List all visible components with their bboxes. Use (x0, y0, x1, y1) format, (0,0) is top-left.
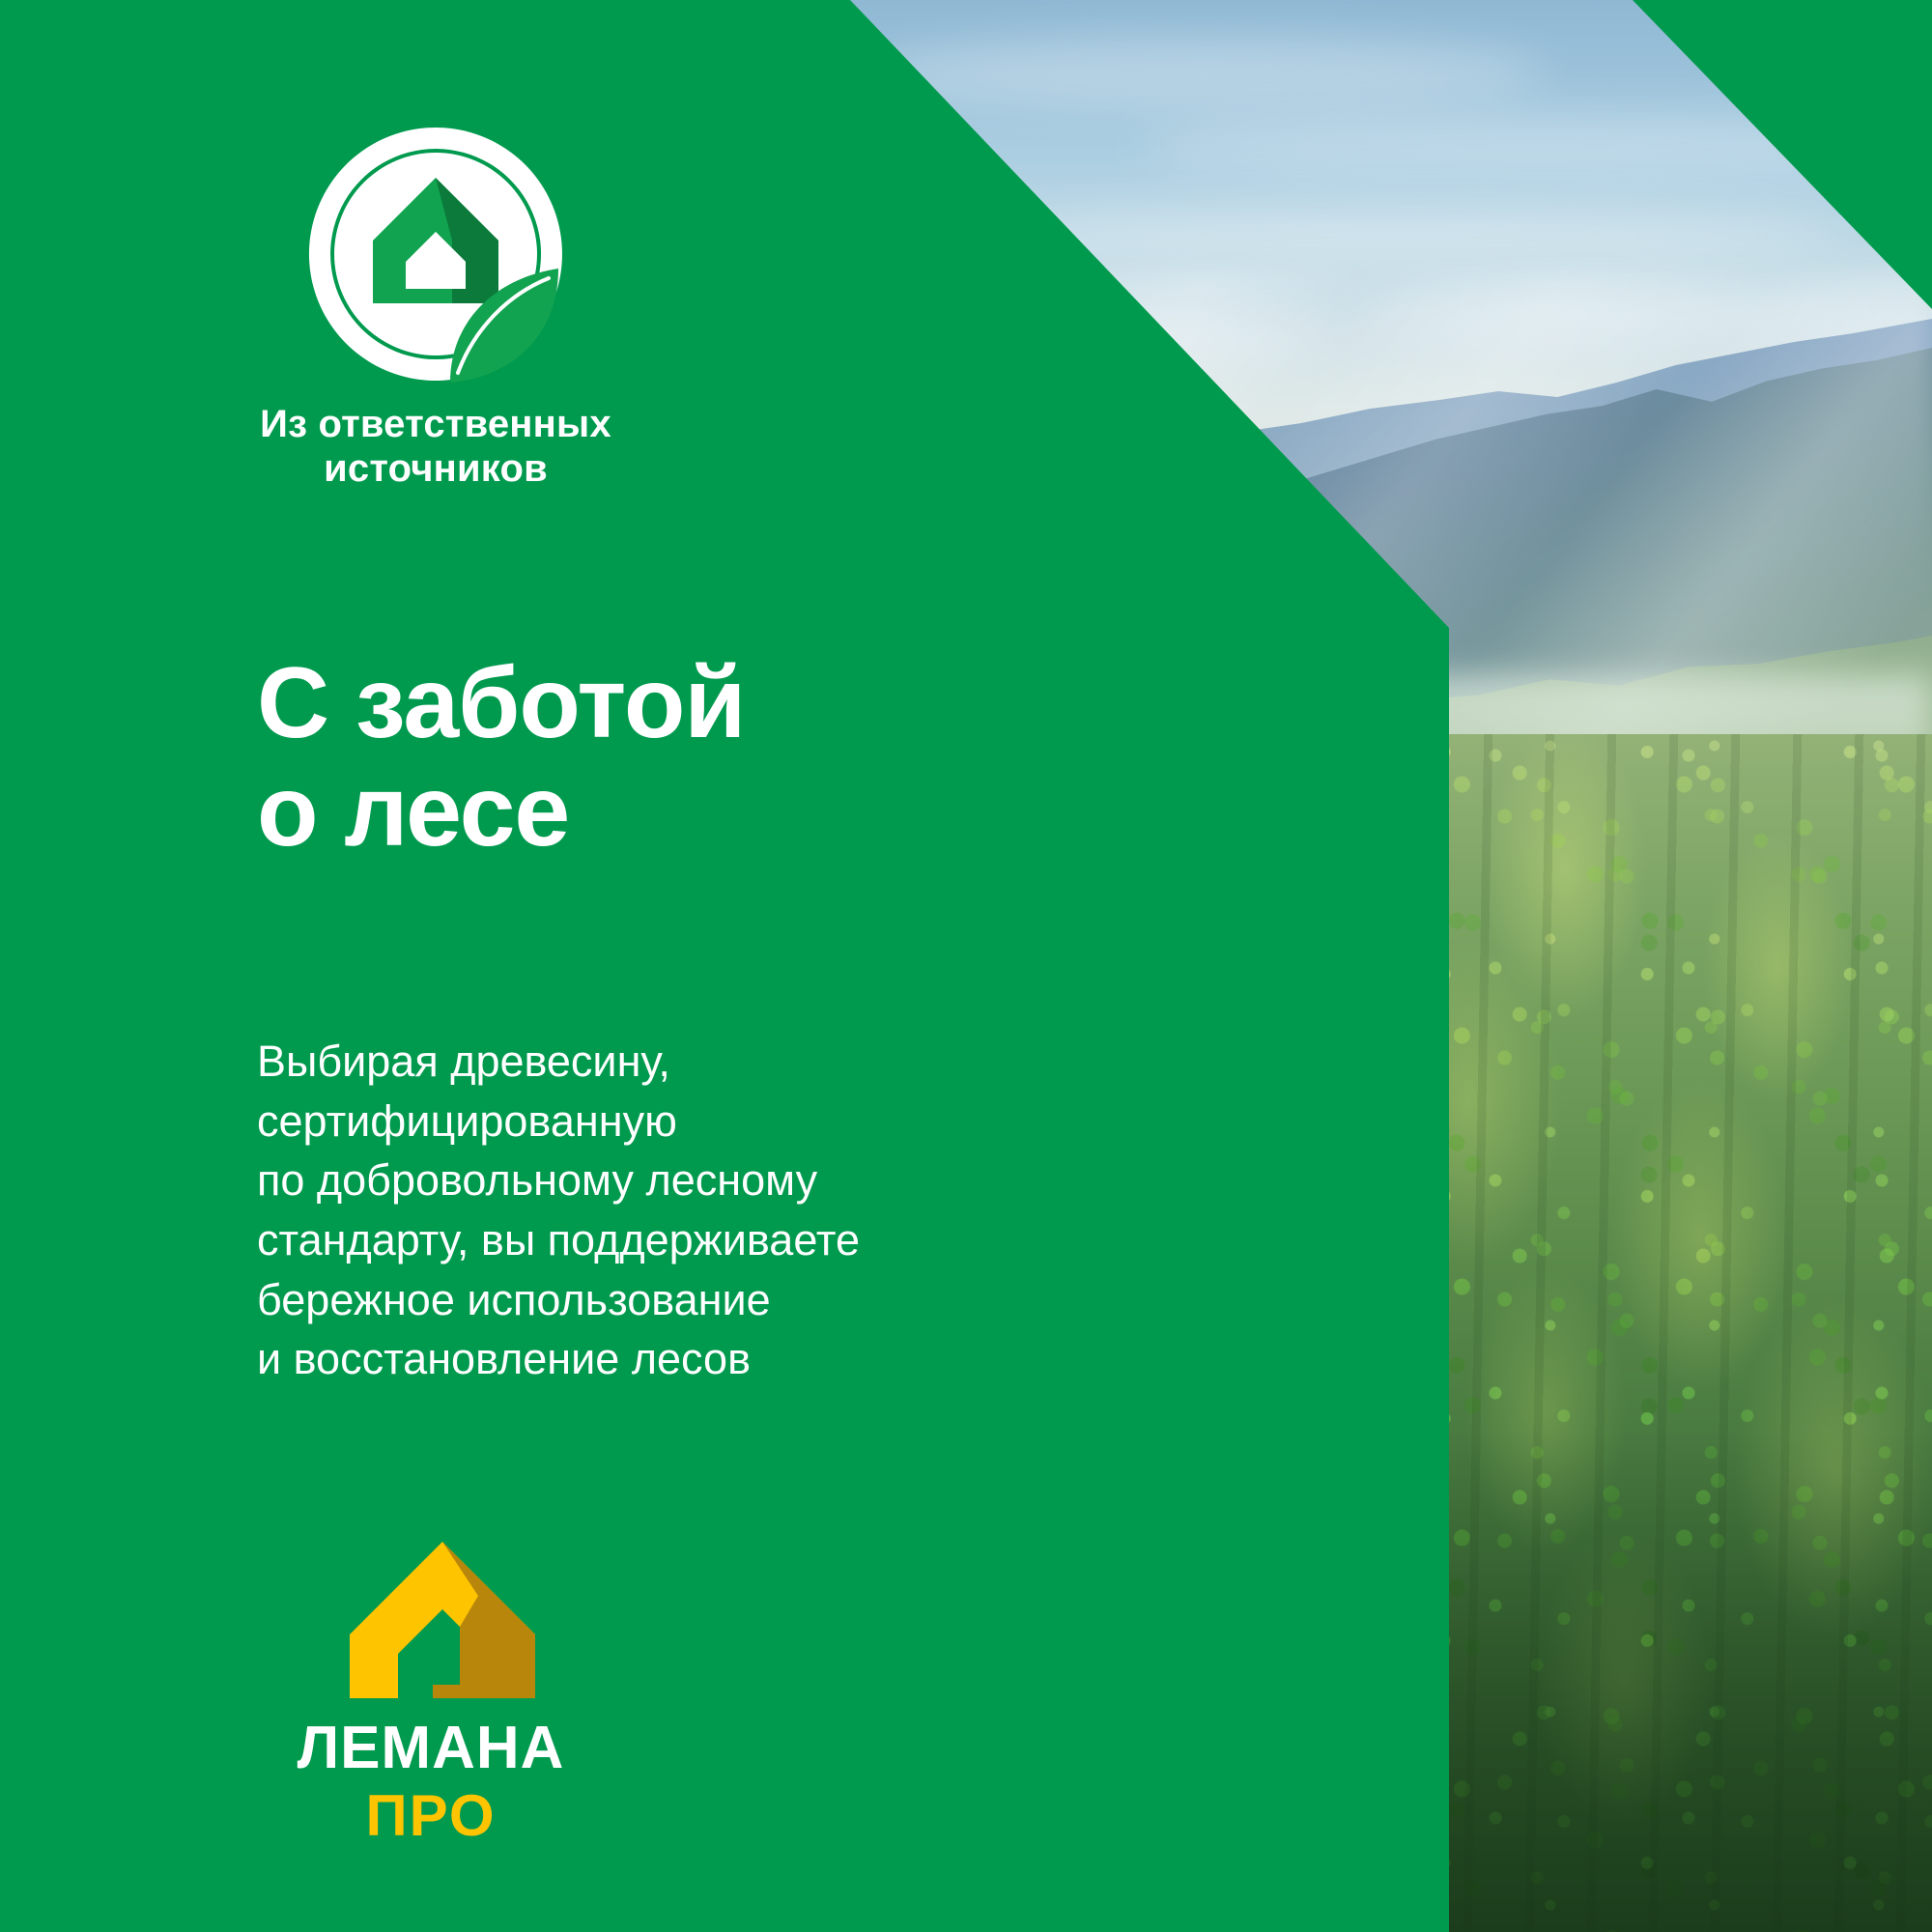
eco-badge-caption: Из ответственных источников (257, 402, 614, 492)
poster-content: Из ответственных источников С заботой о … (0, 0, 1932, 1932)
lemana-pro-logo: ЛЕМАНА ПРО (257, 1538, 634, 1857)
body-paragraph: Выбирая древесину, сертифицированную по … (257, 1032, 860, 1389)
lemana-pro-wordmark: ЛЕМАНА ПРО (257, 1712, 605, 1857)
eco-certification-badge: Из ответственных источников (257, 124, 701, 492)
eco-house-leaf-circle-icon (305, 124, 566, 384)
brand-name-secondary: ПРО (365, 1783, 496, 1848)
lemana-house-icon (346, 1538, 539, 1702)
brand-name-primary: ЛЕМАНА (298, 1715, 565, 1781)
headline: С заботой о лесе (257, 649, 745, 867)
poster-canvas: Из ответственных источников С заботой о … (0, 0, 1932, 1932)
